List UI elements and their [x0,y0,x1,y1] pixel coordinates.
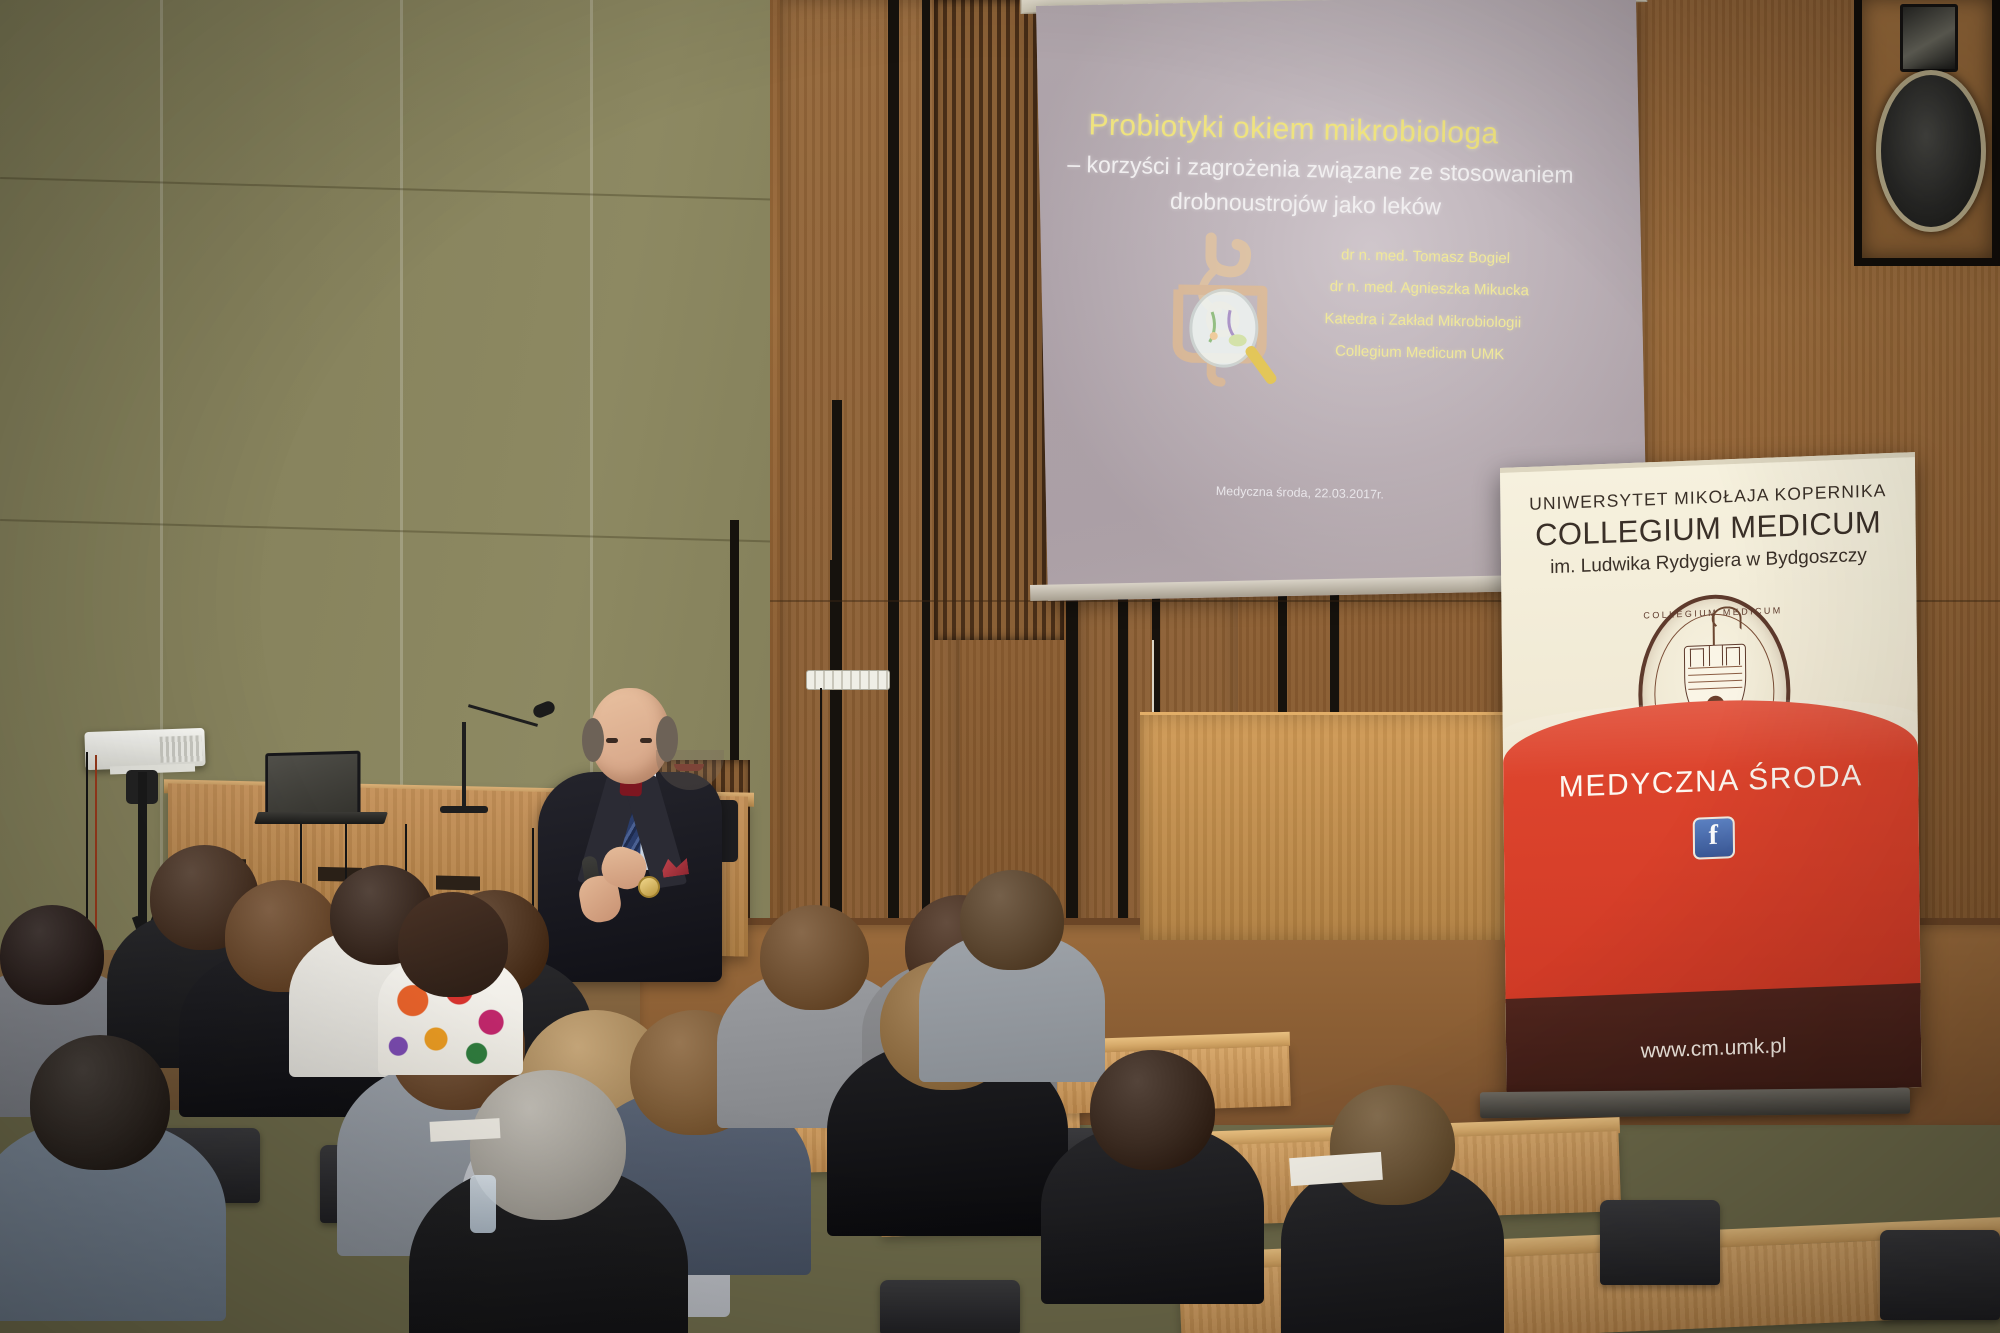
audience-member-head [1330,1085,1455,1205]
audience-member-head [0,905,104,1005]
audience-member-head [1090,1050,1215,1170]
water-bottle-icon [470,1175,496,1233]
audience-member-head [30,1035,170,1170]
audience-member-head [960,870,1064,970]
lecture-hall-photo: Probiotyki okiem mikrobiologa – korzyści… [0,0,2000,1333]
audience-group [0,0,2000,1333]
paper-sheet [430,1118,501,1142]
audience-member-head [760,905,869,1010]
audience-member-head [398,892,508,997]
